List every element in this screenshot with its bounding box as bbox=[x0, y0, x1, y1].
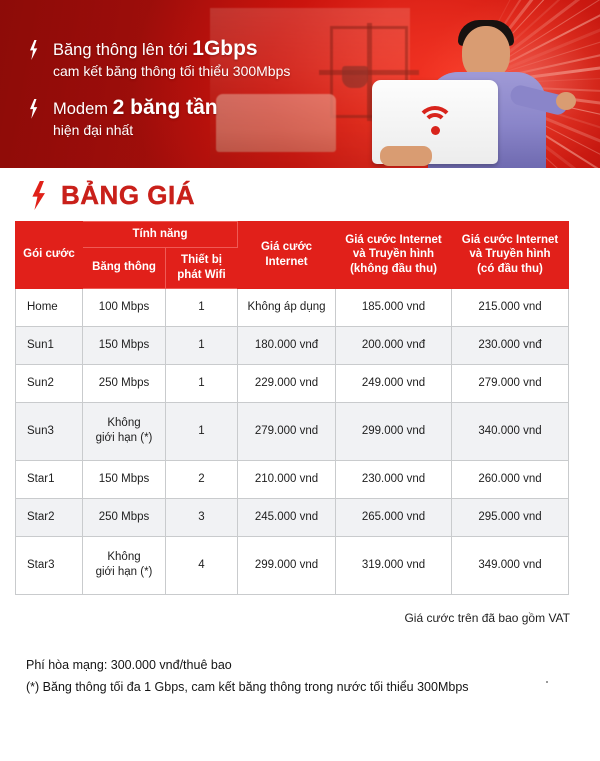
cell-wifi-devices: 1 bbox=[166, 288, 238, 326]
th-internet-price-l2: Internet bbox=[265, 256, 307, 268]
table-row: Star3Khônggiới hạn (*)4299.000 vnd319.00… bbox=[16, 536, 569, 594]
cell-internet-price: 180.000 vnđ bbox=[238, 326, 336, 364]
th-internet-price-l1: Giá cước bbox=[261, 241, 312, 253]
cell-tv-no-box: 185.000 vnd bbox=[336, 288, 452, 326]
lightning-bolt-icon bbox=[30, 181, 47, 210]
person-photo bbox=[406, 20, 556, 168]
cell-internet-price: 279.000 vnd bbox=[238, 402, 336, 460]
cell-bandwidth-l1: Không bbox=[107, 417, 140, 429]
lightning-bolt-icon bbox=[28, 40, 39, 60]
price-table-wrapper: Gói cước Tính năng Giá cước Internet Giá… bbox=[0, 221, 600, 595]
cell-bandwidth: 250 Mbps bbox=[83, 498, 166, 536]
cell-tv-box: 260.000 vnd bbox=[452, 460, 569, 498]
cell-internet-price: Không áp dụng bbox=[238, 288, 336, 326]
th-package: Gói cước bbox=[16, 222, 83, 289]
cell-package: Sun1 bbox=[16, 326, 83, 364]
table-row: Star1150 Mbps2210.000 vnd230.000 vnd260.… bbox=[16, 460, 569, 498]
cell-bandwidth: 100 Mbps bbox=[83, 288, 166, 326]
cell-wifi-devices: 1 bbox=[166, 364, 238, 402]
cell-tv-box: 340.000 vnd bbox=[452, 402, 569, 460]
table-row: Star2250 Mbps3245.000 vnd265.000 vnd295.… bbox=[16, 498, 569, 536]
cell-tv-no-box: 200.000 vnđ bbox=[336, 326, 452, 364]
footer-note-2: (*) Băng thông tối đa 1 Gbps, cam kết bă… bbox=[26, 677, 600, 699]
cell-bandwidth: Khônggiới hạn (*) bbox=[83, 536, 166, 594]
cell-internet-price: 229.000 vnd bbox=[238, 364, 336, 402]
cell-package: Sun2 bbox=[16, 364, 83, 402]
page-root: Băng thông lên tới 1Gbps cam kết băng th… bbox=[0, 0, 600, 761]
banner-text-block: Băng thông lên tới 1Gbps cam kết băng th… bbox=[28, 36, 290, 154]
cell-internet-price: 245.000 vnd bbox=[238, 498, 336, 536]
th-tv-no-box-l3: (không đầu thu) bbox=[350, 263, 437, 275]
cell-tv-no-box: 230.000 vnd bbox=[336, 460, 452, 498]
banner-line1-prefix: Băng thông lên tới bbox=[53, 41, 192, 59]
banner-line1-sub: cam kết băng thông tối thiểu 300Mbps bbox=[53, 63, 290, 81]
table-row: Home100 Mbps1Không áp dụng185.000 vnd215… bbox=[16, 288, 569, 326]
table-header: Gói cước Tính năng Giá cước Internet Giá… bbox=[16, 222, 569, 289]
cell-internet-price: 299.000 vnd bbox=[238, 536, 336, 594]
vat-note: Giá cước trên đã bao gồm VAT bbox=[0, 595, 600, 625]
fingers bbox=[380, 146, 432, 166]
banner-line2-prefix: Modem bbox=[53, 100, 113, 118]
th-wifi-device-l2: phát Wifi bbox=[177, 269, 225, 281]
th-features: Tính năng bbox=[83, 222, 238, 248]
cell-tv-no-box: 319.000 vnd bbox=[336, 536, 452, 594]
cell-bandwidth: 150 Mbps bbox=[83, 460, 166, 498]
cell-bandwidth-l1: Không bbox=[107, 551, 140, 563]
cell-tv-no-box: 299.000 vnd bbox=[336, 402, 452, 460]
cell-wifi-devices: 1 bbox=[166, 326, 238, 364]
th-tv-box: Giá cước Internet và Truyền hình (có đầu… bbox=[452, 222, 569, 289]
th-tv-box-l2: và Truyền hình bbox=[469, 248, 550, 260]
lightning-bolt-icon bbox=[28, 99, 39, 119]
cell-wifi-devices: 1 bbox=[166, 402, 238, 460]
cell-tv-no-box: 249.000 vnd bbox=[336, 364, 452, 402]
th-wifi-device-l1: Thiết bị bbox=[181, 254, 222, 266]
cell-package: Star2 bbox=[16, 498, 83, 536]
cell-tv-box: 349.000 vnd bbox=[452, 536, 569, 594]
cell-internet-price: 210.000 vnd bbox=[238, 460, 336, 498]
cell-wifi-devices: 2 bbox=[166, 460, 238, 498]
cell-tv-box: 279.000 vnd bbox=[452, 364, 569, 402]
footer-note-1: Phí hòa mạng: 300.000 vnđ/thuê bao bbox=[26, 655, 600, 677]
th-tv-box-l3: (có đầu thu) bbox=[477, 263, 543, 275]
cell-bandwidth: 250 Mbps bbox=[83, 364, 166, 402]
cell-package: Home bbox=[16, 288, 83, 326]
banner-line2-strong: 2 băng tần bbox=[113, 96, 218, 119]
banner-line1-strong: 1Gbps bbox=[192, 37, 257, 60]
banner-bullet-2: Modem 2 băng tần hiện đại nhất bbox=[28, 95, 290, 140]
cell-wifi-devices: 4 bbox=[166, 536, 238, 594]
cell-bandwidth-l2: giới hạn (*) bbox=[96, 432, 153, 444]
section-title-row: BẢNG GIÁ bbox=[0, 168, 600, 221]
th-tv-no-box-l1: Giá cước Internet bbox=[345, 234, 441, 246]
promo-banner: Băng thông lên tới 1Gbps cam kết băng th… bbox=[0, 0, 600, 168]
cell-package: Sun3 bbox=[16, 402, 83, 460]
th-bandwidth: Băng thông bbox=[83, 247, 166, 288]
laptop bbox=[372, 80, 498, 164]
th-wifi-device: Thiết bị phát Wifi bbox=[166, 247, 238, 288]
price-table: Gói cước Tính năng Giá cước Internet Giá… bbox=[15, 221, 569, 595]
cell-bandwidth: Khônggiới hạn (*) bbox=[83, 402, 166, 460]
cell-tv-box: 295.000 vnd bbox=[452, 498, 569, 536]
table-row: Sun2250 Mbps1229.000 vnd249.000 vnd279.0… bbox=[16, 364, 569, 402]
cell-bandwidth: 150 Mbps bbox=[83, 326, 166, 364]
table-row: Sun3Khônggiới hạn (*)1279.000 vnd299.000… bbox=[16, 402, 569, 460]
th-tv-no-box-l2: và Truyền hình bbox=[353, 248, 434, 260]
cell-tv-no-box: 265.000 vnd bbox=[336, 498, 452, 536]
banner-bullet-1: Băng thông lên tới 1Gbps cam kết băng th… bbox=[28, 36, 290, 81]
th-tv-box-l1: Giá cước Internet bbox=[462, 234, 558, 246]
cell-package: Star3 bbox=[16, 536, 83, 594]
cell-tv-box: 230.000 vnđ bbox=[452, 326, 569, 364]
table-body: Home100 Mbps1Không áp dụng185.000 vnd215… bbox=[16, 288, 569, 594]
cell-wifi-devices: 3 bbox=[166, 498, 238, 536]
th-internet-price: Giá cước Internet bbox=[238, 222, 336, 289]
cell-bandwidth-l2: giới hạn (*) bbox=[96, 566, 153, 578]
pointing-hand bbox=[556, 92, 576, 110]
banner-line2-sub: hiện đại nhất bbox=[53, 122, 218, 140]
cell-package: Star1 bbox=[16, 460, 83, 498]
footer-notes: Phí hòa mạng: 300.000 vnđ/thuê bao (*) B… bbox=[0, 625, 600, 699]
header-row-1: Gói cước Tính năng Giá cước Internet Giá… bbox=[16, 222, 569, 248]
page-title: BẢNG GIÁ bbox=[61, 180, 195, 211]
page-speck bbox=[546, 681, 548, 683]
cell-tv-box: 215.000 vnd bbox=[452, 288, 569, 326]
th-tv-no-box: Giá cước Internet và Truyền hình (không … bbox=[336, 222, 452, 289]
table-row: Sun1150 Mbps1180.000 vnđ200.000 vnđ230.0… bbox=[16, 326, 569, 364]
